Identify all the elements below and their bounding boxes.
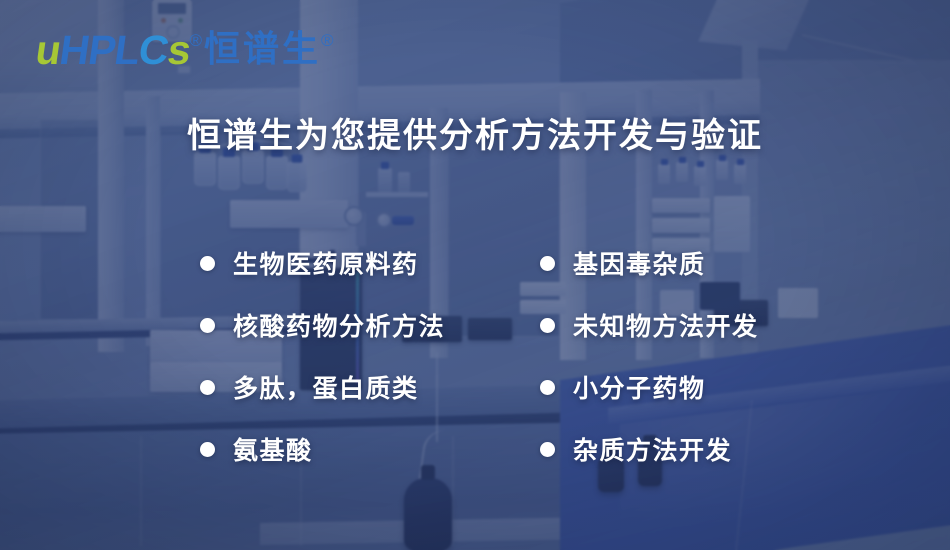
list-item-label: 生物医药原料药 — [233, 245, 419, 281]
logo-letter-s: s — [165, 30, 193, 71]
list-item-label: 杂质方法开发 — [573, 431, 732, 467]
list-item-label: 氨基酸 — [233, 431, 313, 467]
promo-banner: u HPL C s ® 恒谱生 ® 恒谱生为您提供分析方法开发与验证 生物医药原… — [0, 0, 950, 550]
logo-chinese-name: 恒谱生 — [204, 31, 321, 67]
list-item[interactable]: 多肽，蛋白质类 — [200, 356, 530, 418]
list-item[interactable]: 小分子药物 — [540, 356, 870, 418]
bullet-dot-icon — [540, 256, 555, 271]
page-title: 恒谱生为您提供分析方法开发与验证 — [0, 108, 950, 157]
list-item[interactable]: 氨基酸 — [200, 418, 530, 480]
list-item-label: 小分子药物 — [573, 369, 706, 405]
bullet-dot-icon — [200, 256, 215, 271]
service-list-right: 基因毒杂质 未知物方法开发 小分子药物 杂质方法开发 — [540, 232, 870, 480]
list-item[interactable]: 杂质方法开发 — [540, 418, 870, 480]
list-item[interactable]: 生物医药原料药 — [200, 232, 530, 294]
list-item[interactable]: 未知物方法开发 — [540, 294, 870, 356]
banner-content: u HPL C s ® 恒谱生 ® 恒谱生为您提供分析方法开发与验证 生物医药原… — [0, 0, 950, 550]
bullet-dot-icon — [540, 318, 555, 333]
bullet-dot-icon — [540, 442, 555, 457]
bullet-dot-icon — [200, 318, 215, 333]
list-item[interactable]: 核酸药物分析方法 — [200, 294, 530, 356]
list-item-label: 多肽，蛋白质类 — [233, 369, 419, 405]
bullet-dot-icon — [540, 380, 555, 395]
service-list-left: 生物医药原料药 核酸药物分析方法 多肽，蛋白质类 氨基酸 — [200, 232, 530, 480]
list-item-label: 基因毒杂质 — [573, 245, 706, 281]
list-item[interactable]: 基因毒杂质 — [540, 232, 870, 294]
service-lists: 生物医药原料药 核酸药物分析方法 多肽，蛋白质类 氨基酸 — [0, 232, 950, 480]
list-item-label: 未知物方法开发 — [573, 307, 759, 343]
bullet-dot-icon — [200, 442, 215, 457]
bullet-dot-icon — [200, 380, 215, 395]
brand-logo[interactable]: u HPL C s ® 恒谱生 ® — [36, 30, 334, 71]
registered-trademark-icon-2: ® — [321, 32, 334, 49]
list-item-label: 核酸药物分析方法 — [233, 307, 445, 343]
logo-letters-hpl: HPL — [57, 30, 142, 71]
